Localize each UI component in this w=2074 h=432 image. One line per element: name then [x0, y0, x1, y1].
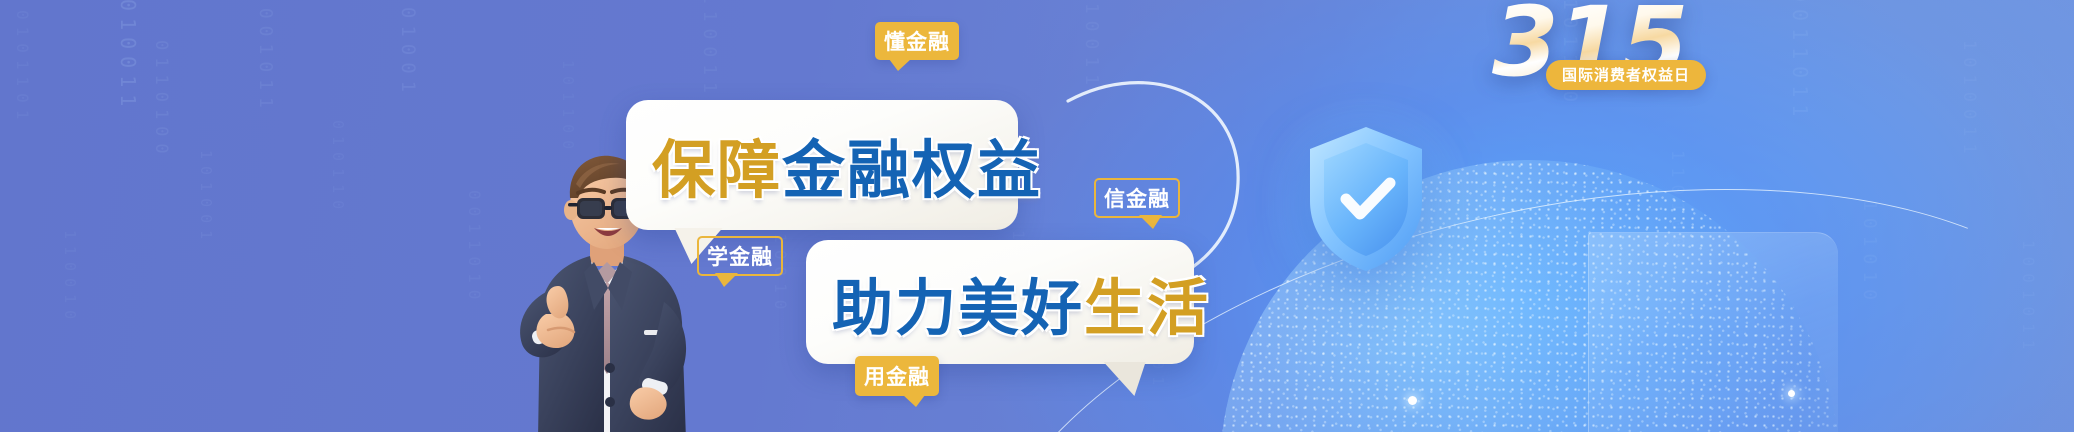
headline-bubble-secondary: 助力美好生活	[806, 240, 1194, 364]
binary-stream: 0011010	[466, 190, 482, 306]
logo-315: 315 国际消费者权益日	[1492, 0, 1732, 104]
binary-stream: 101001	[198, 150, 213, 246]
headline-primary-gold: 保障	[652, 120, 782, 211]
tag-yong-jinrong[interactable]: 用金融	[855, 356, 939, 396]
tag-label: 用金融	[864, 361, 930, 391]
headline-secondary-blue: 助力美好	[832, 258, 1084, 347]
bubble-tail	[1104, 362, 1151, 396]
binary-stream: 110010	[62, 230, 77, 326]
financial-consumer-rights-banner: 1010011 0110100 101001 0101101 110010 10…	[0, 0, 2074, 432]
binary-stream: 1010011	[1960, 40, 1977, 161]
tag-tail	[889, 59, 911, 71]
binary-stream: 0110011	[700, 0, 718, 100]
tag-dong-jinrong[interactable]: 懂金融	[875, 22, 959, 60]
binary-stream: 101010	[1860, 200, 1878, 307]
tag-tail	[715, 273, 738, 287]
binary-stream: 1001011	[2020, 240, 2036, 356]
tag-label: 学金融	[707, 241, 773, 271]
binary-stream: 0101101	[14, 10, 30, 126]
binary-stream: 110100	[1668, 150, 1685, 253]
tag-xin-jinrong[interactable]: 信金融	[1094, 178, 1180, 218]
orbit-line-icon	[1077, 252, 2074, 432]
binary-stream: 0011011	[1790, 0, 1810, 123]
binary-code-background: 1010011 0110100 101001 0101101 110010 10…	[0, 0, 2074, 432]
headline-secondary-gold: 生活	[1084, 258, 1210, 347]
headline-bubble-primary: 保障金融权益	[626, 100, 1018, 230]
orbit-node-dot	[1788, 390, 1795, 397]
tag-tail	[903, 395, 925, 407]
binary-stream: 1001011	[256, 0, 274, 115]
glass-panel-decor	[1588, 232, 1838, 432]
shield-check-icon	[1302, 123, 1430, 275]
headline-primary-text: 保障金融权益	[626, 100, 1018, 230]
headline-secondary-text: 助力美好生活	[806, 240, 1194, 364]
tag-label: 懂金融	[884, 26, 950, 56]
tag-tail	[1139, 215, 1162, 229]
binary-stream: 0110100	[152, 40, 169, 161]
globe-graphic	[1140, 60, 2000, 432]
tag-label: 信金融	[1104, 183, 1170, 213]
orbit-node-dot	[1408, 396, 1417, 405]
tag-xue-jinrong[interactable]: 学金融	[697, 236, 783, 276]
binary-stream: 1101001	[398, 0, 417, 99]
binary-stream: 010011	[1082, 0, 1100, 92]
binary-stream: 010110	[330, 120, 345, 216]
headline-primary-blue: 金融权益	[782, 120, 1042, 211]
binary-stream: 1010011	[118, 0, 138, 113]
consumer-rights-day-badge: 国际消费者权益日	[1546, 60, 1706, 90]
